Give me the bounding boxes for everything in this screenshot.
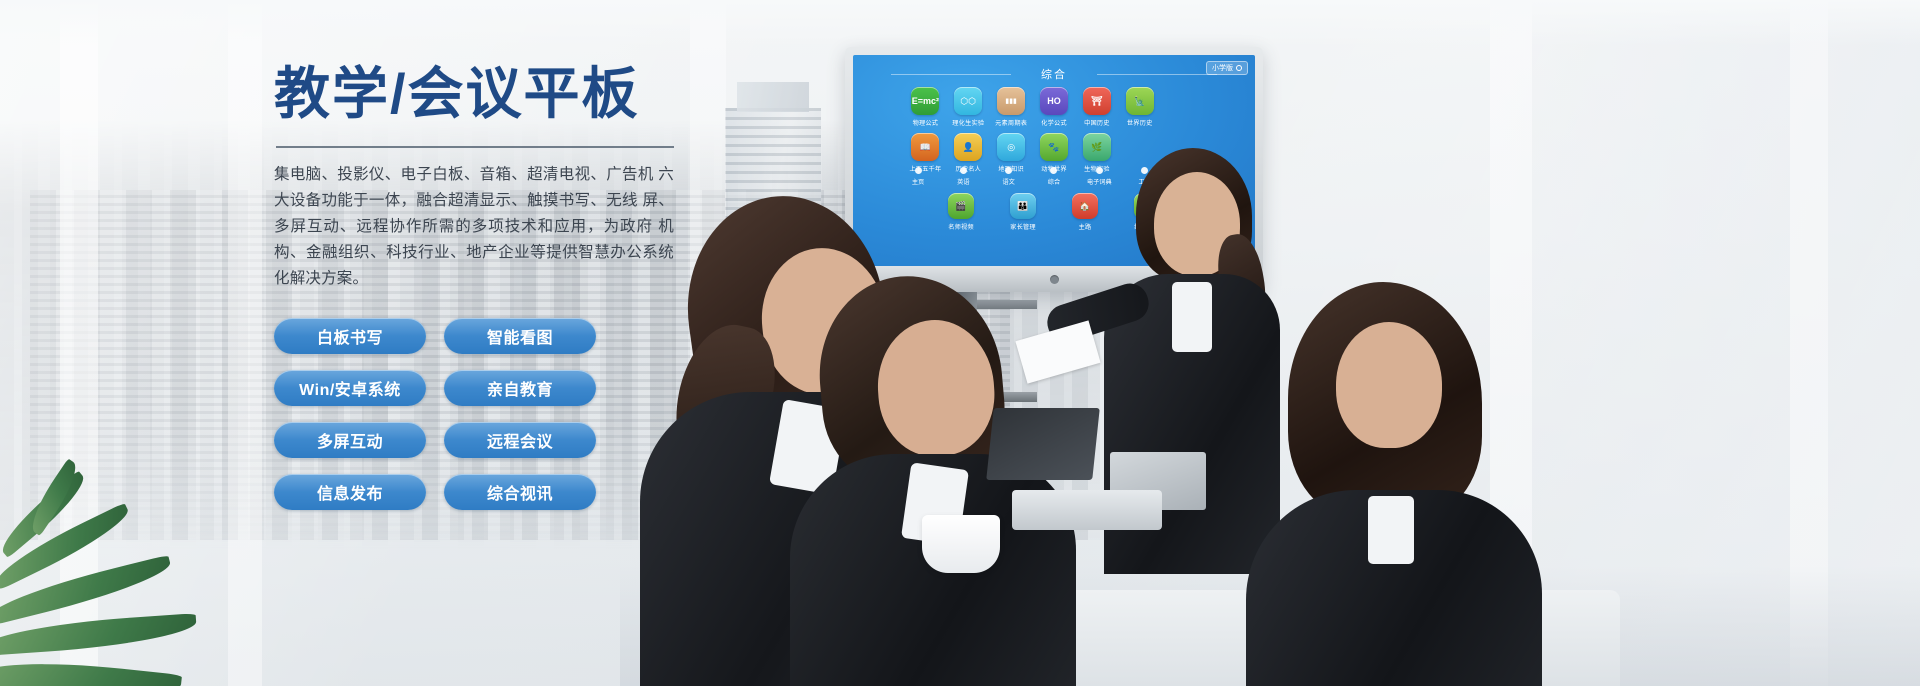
teacher-video-icon: 🎬	[948, 193, 974, 219]
historic-figures-icon: 👤	[954, 133, 982, 161]
english-icon	[960, 167, 967, 174]
dock-label: 语文	[989, 177, 1029, 186]
dock-item-chinese[interactable]: 语文	[989, 167, 1029, 186]
world-history-icon: 🗽	[1126, 87, 1154, 115]
feature-button-win-android[interactable]: Win/安卓系统	[274, 370, 426, 406]
feature-button-education[interactable]: 亲自教育	[444, 370, 596, 406]
collar	[1368, 496, 1414, 564]
participant-second-left	[800, 276, 1050, 686]
screen-title: 综合	[853, 66, 1255, 82]
app-tile-world-history[interactable]: 🗽 世界历史	[1121, 87, 1159, 127]
app-tile-chinese-history[interactable]: ⛩ 中国历史	[1078, 87, 1116, 127]
shortcut-parent-control[interactable]: 👪 家长管理	[1001, 193, 1045, 231]
title-divider	[276, 146, 674, 148]
power-indicator-icon	[1050, 275, 1059, 284]
five-thousand-years-icon: 📖	[911, 133, 939, 161]
science-lab-icon: ⬡⬡	[954, 87, 982, 115]
app-label: 世界历史	[1121, 118, 1159, 127]
dock-label: 英语	[943, 177, 983, 186]
shortcut-teacher-video[interactable]: 🎬 名师视频	[939, 193, 983, 231]
feature-button-multiscreen[interactable]: 多屏互动	[274, 422, 426, 458]
chinese-history-icon: ⛩	[1083, 87, 1111, 115]
page-title: 教学/会议平板	[274, 62, 694, 126]
grade-badge[interactable]: 小学版	[1206, 61, 1248, 75]
collar	[1172, 282, 1212, 352]
ceiling-strip	[0, 0, 1920, 46]
app-tile-chemistry-formula[interactable]: HO 化学公式	[1035, 87, 1073, 127]
feature-button-info-publish[interactable]: 信息发布	[274, 474, 426, 510]
shortcut-label: 家长管理	[1001, 222, 1045, 231]
periodic-table-icon: ▮▮▮	[997, 87, 1025, 115]
app-tile-periodic-table[interactable]: ▮▮▮ 元素周期表	[992, 87, 1030, 127]
app-tile-science-lab[interactable]: ⬡⬡ 理化生实验	[949, 87, 987, 127]
app-label: 物理公式	[906, 118, 944, 127]
shortcut-label: 名师视频	[939, 222, 983, 231]
feature-button-smart-view[interactable]: 智能看图	[444, 318, 596, 354]
feature-button-remote-meeting[interactable]: 远程会议	[444, 422, 596, 458]
notebook-flat	[1012, 490, 1162, 530]
dock-label: 综合	[1034, 177, 1074, 186]
hero-banner: 教学/会议平板 集电脑、投影仪、电子白板、音箱、超清电视、广告机 六大设备功能于…	[0, 0, 1920, 686]
feature-button-video-conf[interactable]: 综合视讯	[444, 474, 596, 510]
app-label: 化学公式	[1035, 118, 1073, 127]
grade-badge-label: 小学版	[1212, 63, 1233, 73]
app-label: 理化生实验	[949, 118, 987, 127]
comprehensive-icon	[1050, 167, 1057, 174]
home-icon	[915, 167, 922, 174]
dock-item-home[interactable]: 主页	[898, 167, 938, 186]
chinese-icon	[1005, 167, 1012, 174]
dock-item-english[interactable]: 英语	[943, 167, 983, 186]
laptop-open	[986, 408, 1100, 480]
coffee-cup	[922, 515, 1000, 573]
parent-control-icon: 👪	[1010, 193, 1036, 219]
app-label: 中国历史	[1078, 118, 1116, 127]
animal-world-icon: 🐾	[1040, 133, 1068, 161]
physics-formula-icon: E=mc²	[911, 87, 939, 115]
hero-description: 集电脑、投影仪、电子白板、音箱、超清电视、广告机 六大设备功能于一体，融合超清显…	[274, 162, 674, 292]
dock-item-comprehensive[interactable]: 综合	[1034, 167, 1074, 186]
potted-plant	[0, 456, 290, 686]
feature-button-whiteboard[interactable]: 白板书写	[274, 318, 426, 354]
participant-right	[1260, 282, 1510, 686]
hero-text-panel: 教学/会议平板 集电脑、投影仪、电子白板、音箱、超清电视、广告机 六大设备功能于…	[274, 62, 694, 510]
feature-button-grid: 白板书写 智能看图 Win/安卓系统 亲自教育 多屏互动 远程会议 信息发布 综…	[274, 318, 694, 510]
house-icon: 🏠	[1072, 193, 1098, 219]
app-label: 元素周期表	[992, 118, 1030, 127]
app-tile-physics-formula[interactable]: E=mc² 物理公式	[906, 87, 944, 127]
refresh-icon[interactable]	[1236, 65, 1242, 71]
chemistry-formula-icon: HO	[1040, 87, 1068, 115]
dock-label: 主页	[898, 177, 938, 186]
head	[1336, 322, 1442, 448]
geography-icon: ◎	[997, 133, 1025, 161]
